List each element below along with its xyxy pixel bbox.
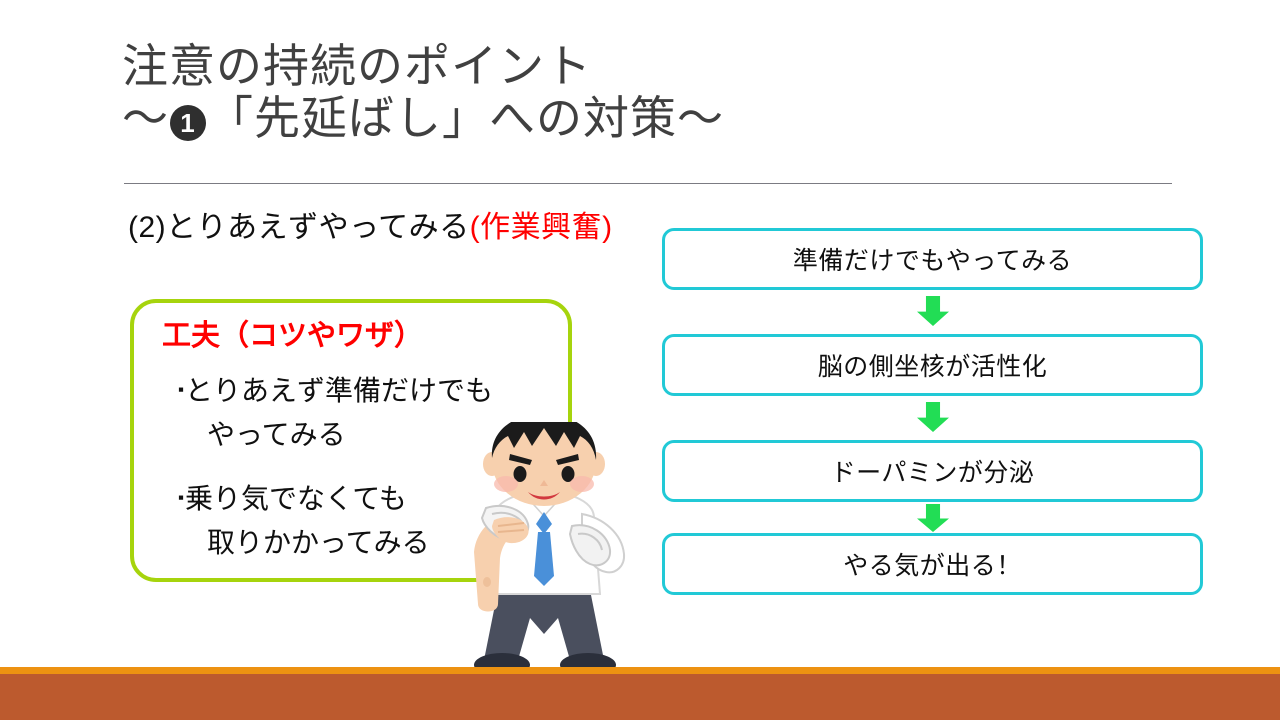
subtitle-main: (2)とりあえずやってみる <box>128 211 470 244</box>
flow-step-box: ドーパミンが分泌 <box>662 440 1203 502</box>
title-line-1: 注意の持続のポイント <box>122 40 1182 92</box>
flow-step-box: 準備だけでもやってみる <box>662 228 1203 290</box>
footer-band <box>0 674 1280 720</box>
down-arrow-icon <box>917 296 949 326</box>
title-divider <box>124 183 1172 184</box>
flow-step-label: 脳の側坐核が活性化 <box>665 347 1200 383</box>
title-line-2: 〜1「先延ばし」への対策〜 <box>122 92 1182 144</box>
flow-step-box: やる気が出る！ <box>662 533 1203 595</box>
list-item-line-1: 乗り気でなくても <box>185 483 407 514</box>
circled-number-badge: 1 <box>170 105 206 141</box>
tips-box-heading: 工夫（コツやワザ） <box>162 312 423 354</box>
man-rolling-up-sleeves-illustration <box>432 422 656 690</box>
title-tilde-prefix: 〜 <box>122 92 169 144</box>
flow-step-box: 脳の側坐核が活性化 <box>662 334 1203 396</box>
page-title: 注意の持続のポイント 〜1「先延ばし」への対策〜 <box>122 40 1182 144</box>
square-bullet-icon: ▪ <box>178 488 184 507</box>
flow-step-label: 準備だけでもやってみる <box>665 241 1200 277</box>
list-item-line-1: とりあえず準備だけでも <box>185 375 493 406</box>
footer-accent-band <box>0 667 1280 674</box>
subtitle: (2)とりあえずやってみる(作業興奮) <box>128 202 613 246</box>
down-arrow-icon <box>917 504 949 532</box>
flow-step-label: やる気が出る！ <box>665 546 1200 582</box>
subtitle-accent: (作業興奮) <box>470 211 613 244</box>
slide-canvas: 注意の持続のポイント 〜1「先延ばし」への対策〜 (2)とりあえずやってみる(作… <box>0 0 1280 720</box>
title-line-2-text: 「先延ばし」への対策〜 <box>207 92 724 144</box>
flow-step-label: ドーパミンが分泌 <box>665 453 1200 489</box>
down-arrow-icon <box>917 402 949 432</box>
list-item-line-2: 取りかかってみる <box>207 521 430 565</box>
square-bullet-icon: ▪ <box>178 380 184 399</box>
list-item: ▪乗り気でなくても 取りかかってみる <box>178 476 430 565</box>
